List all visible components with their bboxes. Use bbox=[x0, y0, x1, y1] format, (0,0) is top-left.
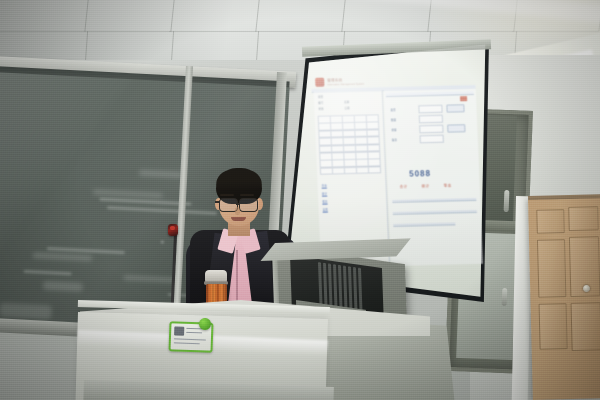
slide-link-1[interactable]: 统计 bbox=[322, 192, 327, 196]
slide-left-label-1: 编号 bbox=[318, 101, 323, 105]
wooden-door[interactable] bbox=[528, 198, 600, 400]
monitor-vent-slat bbox=[323, 263, 327, 310]
slide-right-label-0: 类型 bbox=[390, 108, 395, 112]
slide-logo-icon bbox=[315, 78, 324, 87]
monitor-vent-slat bbox=[348, 266, 352, 313]
slide-left-label-4: 日期 bbox=[344, 106, 349, 110]
presenter-hair-fringe bbox=[216, 170, 262, 190]
presenter-eyebrow-left bbox=[220, 194, 234, 196]
slide-link-3[interactable]: 设置 bbox=[323, 208, 328, 212]
slide-right-label-2: 金额 bbox=[391, 128, 396, 132]
monitor-vent-slat bbox=[338, 265, 342, 312]
slide-link-2[interactable]: 报表 bbox=[322, 200, 327, 204]
monitor-vent-slat bbox=[328, 263, 332, 310]
slide-big-number: 5088 bbox=[409, 169, 431, 179]
eyeglasses-bridge bbox=[236, 203, 240, 205]
slide-right-label-1: 数量 bbox=[391, 118, 396, 122]
eyeglasses-temple bbox=[215, 201, 220, 203]
slide-red-mark-1: 统计 bbox=[422, 183, 430, 188]
slide-alert-badge bbox=[460, 96, 467, 101]
presenter-mouth bbox=[231, 217, 246, 221]
microphone-indicator-icon bbox=[170, 226, 175, 230]
slide-table-cell bbox=[320, 167, 333, 175]
monitor-vent-slat bbox=[318, 262, 322, 309]
presenter-nose bbox=[235, 207, 240, 215]
slide-link-0[interactable]: 查询 bbox=[322, 184, 327, 188]
slide-header-subtitle: Information Management System bbox=[327, 83, 364, 87]
presenter-eyebrow-right bbox=[240, 194, 254, 196]
monitor-vent-slat bbox=[358, 268, 362, 315]
eyeglasses-lens-right bbox=[239, 198, 258, 212]
slide-action-button-2[interactable] bbox=[447, 124, 465, 132]
slide-right-label-3: 备注 bbox=[392, 138, 397, 142]
slide-red-mark-2: 导出 bbox=[444, 183, 452, 188]
slide-table-cell bbox=[344, 167, 357, 175]
door-knob[interactable] bbox=[583, 285, 590, 292]
slide-action-button[interactable] bbox=[446, 104, 464, 112]
classroom-presentation-photo: 管理系统 Information Management System 项目 编号… bbox=[0, 0, 600, 400]
slide-left-label-2: 名称 bbox=[344, 100, 349, 104]
inspection-seal-icon bbox=[199, 318, 211, 330]
slide-left-label-0: 项目 bbox=[318, 95, 323, 99]
monitor-vent-slat bbox=[353, 267, 357, 314]
slide-red-mark-0: 合计 bbox=[400, 184, 408, 189]
monitor-vent-slat bbox=[333, 264, 337, 311]
slide-table-cell bbox=[356, 166, 369, 174]
window-latch[interactable] bbox=[502, 288, 508, 306]
window-handle[interactable] bbox=[504, 190, 510, 212]
slide-left-label-3: 状态 bbox=[318, 107, 323, 111]
slide-table-cell bbox=[332, 167, 345, 175]
slide-table-cell bbox=[368, 166, 381, 174]
monitor-vent-slat bbox=[343, 266, 347, 313]
